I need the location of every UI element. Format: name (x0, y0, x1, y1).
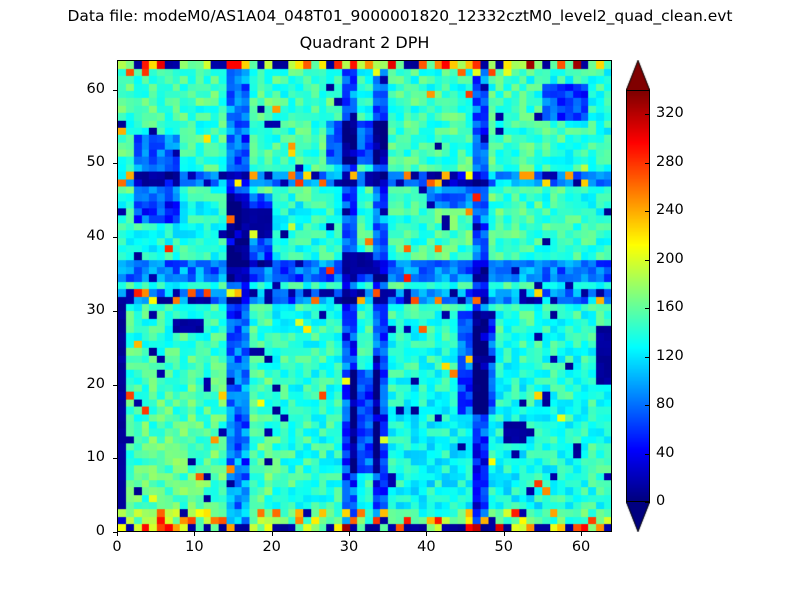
colorbar-tick-label: 240 (656, 202, 684, 218)
x-tick-label: 20 (242, 539, 302, 555)
x-tick-mark (504, 532, 505, 536)
y-tick-mark (113, 237, 117, 238)
y-tick-mark (113, 90, 117, 91)
y-tick-mark (113, 458, 117, 459)
colorbar-tick-label: 0 (656, 493, 665, 509)
colorbar-tick-mark (645, 454, 650, 455)
x-tick-mark (272, 532, 273, 536)
colorbar-tick-mark (645, 163, 650, 164)
y-tick-label: 10 (59, 449, 105, 465)
x-tick-mark (349, 532, 350, 536)
colorbar-tick-mark (645, 211, 650, 212)
x-tick-label: 30 (319, 539, 379, 555)
colorbar-tick-label: 200 (656, 251, 684, 267)
data-file-label: Data file: modeM0/AS1A04_048T01_90000018… (0, 7, 800, 25)
colorbar-tick-label: 120 (656, 348, 684, 364)
x-tick-mark (426, 532, 427, 536)
colorbar-tick-mark (645, 502, 650, 503)
y-tick-mark (113, 311, 117, 312)
x-tick-mark (581, 532, 582, 536)
detector-heatmap-image[interactable] (118, 61, 611, 531)
colorbar-tick-label: 40 (656, 445, 674, 461)
y-tick-label: 20 (59, 376, 105, 392)
x-tick-mark (117, 532, 118, 536)
colorbar-tick-mark (645, 357, 650, 358)
colorbar-tick-label: 320 (656, 105, 684, 121)
colorbar-tick-label: 80 (656, 396, 674, 412)
colorbar-tick-mark (645, 260, 650, 261)
x-tick-label: 60 (551, 539, 611, 555)
colorbar[interactable] (626, 60, 650, 532)
colorbar-tick-mark (645, 114, 650, 115)
y-tick-mark (113, 163, 117, 164)
colorbar-tick-mark (645, 308, 650, 309)
colorbar-extend-min-arrow (626, 502, 650, 532)
colorbar-gradient (627, 91, 649, 501)
heatmap-axes[interactable] (117, 60, 612, 532)
x-tick-label: 10 (164, 539, 224, 555)
y-tick-label: 50 (59, 154, 105, 170)
x-tick-label: 50 (474, 539, 534, 555)
plot-title: Quadrant 2 DPH (117, 33, 612, 52)
y-tick-mark (113, 385, 117, 386)
x-tick-mark (194, 532, 195, 536)
colorbar-tick-label: 280 (656, 154, 684, 170)
y-tick-label: 60 (59, 81, 105, 97)
y-tick-label: 40 (59, 228, 105, 244)
x-tick-label: 0 (87, 539, 147, 555)
colorbar-tick-mark (645, 405, 650, 406)
colorbar-tick-label: 160 (656, 299, 684, 315)
y-tick-label: 0 (59, 523, 105, 539)
colorbar-extend-max-arrow (626, 60, 650, 90)
x-tick-label: 40 (396, 539, 456, 555)
colorbar-body (626, 90, 650, 502)
y-tick-mark (113, 532, 117, 533)
y-tick-label: 30 (59, 302, 105, 318)
figure-canvas: Data file: modeM0/AS1A04_048T01_90000018… (0, 0, 800, 600)
